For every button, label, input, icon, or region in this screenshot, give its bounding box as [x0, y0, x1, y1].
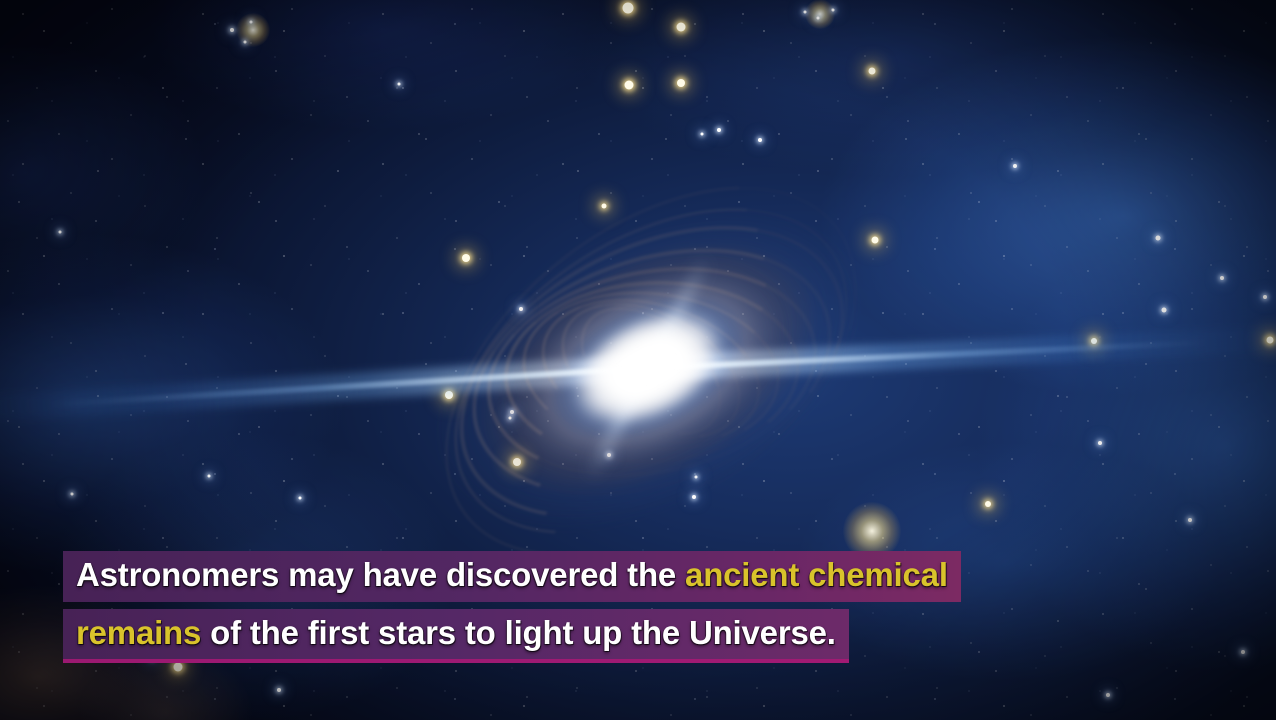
star-white: [1162, 308, 1167, 313]
star-gold: [625, 81, 634, 90]
video-frame: Astronomers may have discovered the anci…: [0, 0, 1276, 720]
star-gold: [623, 3, 634, 14]
star-white: [277, 688, 281, 692]
star-white: [230, 28, 234, 32]
star-white: [717, 128, 721, 132]
star-gold: [1267, 337, 1274, 344]
caption-line-2-plain: of the first stars to light up the Unive…: [201, 614, 836, 651]
star-white: [1098, 441, 1102, 445]
star-gold: [1091, 338, 1097, 344]
star-white: [832, 9, 835, 12]
star-gold: [872, 237, 879, 244]
star-gold: [602, 204, 607, 209]
star-white: [817, 17, 820, 20]
star-gold: [985, 501, 991, 507]
star-white: [1013, 164, 1017, 168]
caption-line-1: Astronomers may have discovered the anci…: [63, 551, 961, 602]
star-white: [71, 493, 74, 496]
caption-line-2: remains of the first stars to light up t…: [63, 609, 849, 664]
star-white: [1263, 295, 1267, 299]
star-white: [758, 138, 762, 142]
star-white: [1220, 276, 1224, 280]
star-white: [208, 475, 211, 478]
star-gold: [869, 68, 876, 75]
star-white: [299, 497, 302, 500]
star-gold: [462, 254, 470, 262]
star-gold: [174, 663, 183, 672]
caption-line-1-plain: Astronomers may have discovered the: [76, 556, 685, 593]
star-gold: [677, 23, 686, 32]
star-gold: [677, 79, 685, 87]
star-cluster: [805, 0, 835, 29]
star-white: [398, 83, 401, 86]
star-cluster: [236, 13, 270, 47]
star-white: [1106, 693, 1110, 697]
star-white: [250, 21, 253, 24]
star-white: [804, 11, 807, 14]
caption-overlay: Astronomers may have discovered the anci…: [63, 551, 961, 663]
star-white: [59, 231, 62, 234]
star-white: [1156, 236, 1161, 241]
star-white: [244, 41, 247, 44]
star-white: [701, 133, 704, 136]
caption-line-1-highlight: ancient chemical: [685, 556, 948, 593]
star-white: [1241, 650, 1245, 654]
star-white: [1188, 518, 1192, 522]
caption-line-2-highlight: remains: [76, 614, 201, 651]
